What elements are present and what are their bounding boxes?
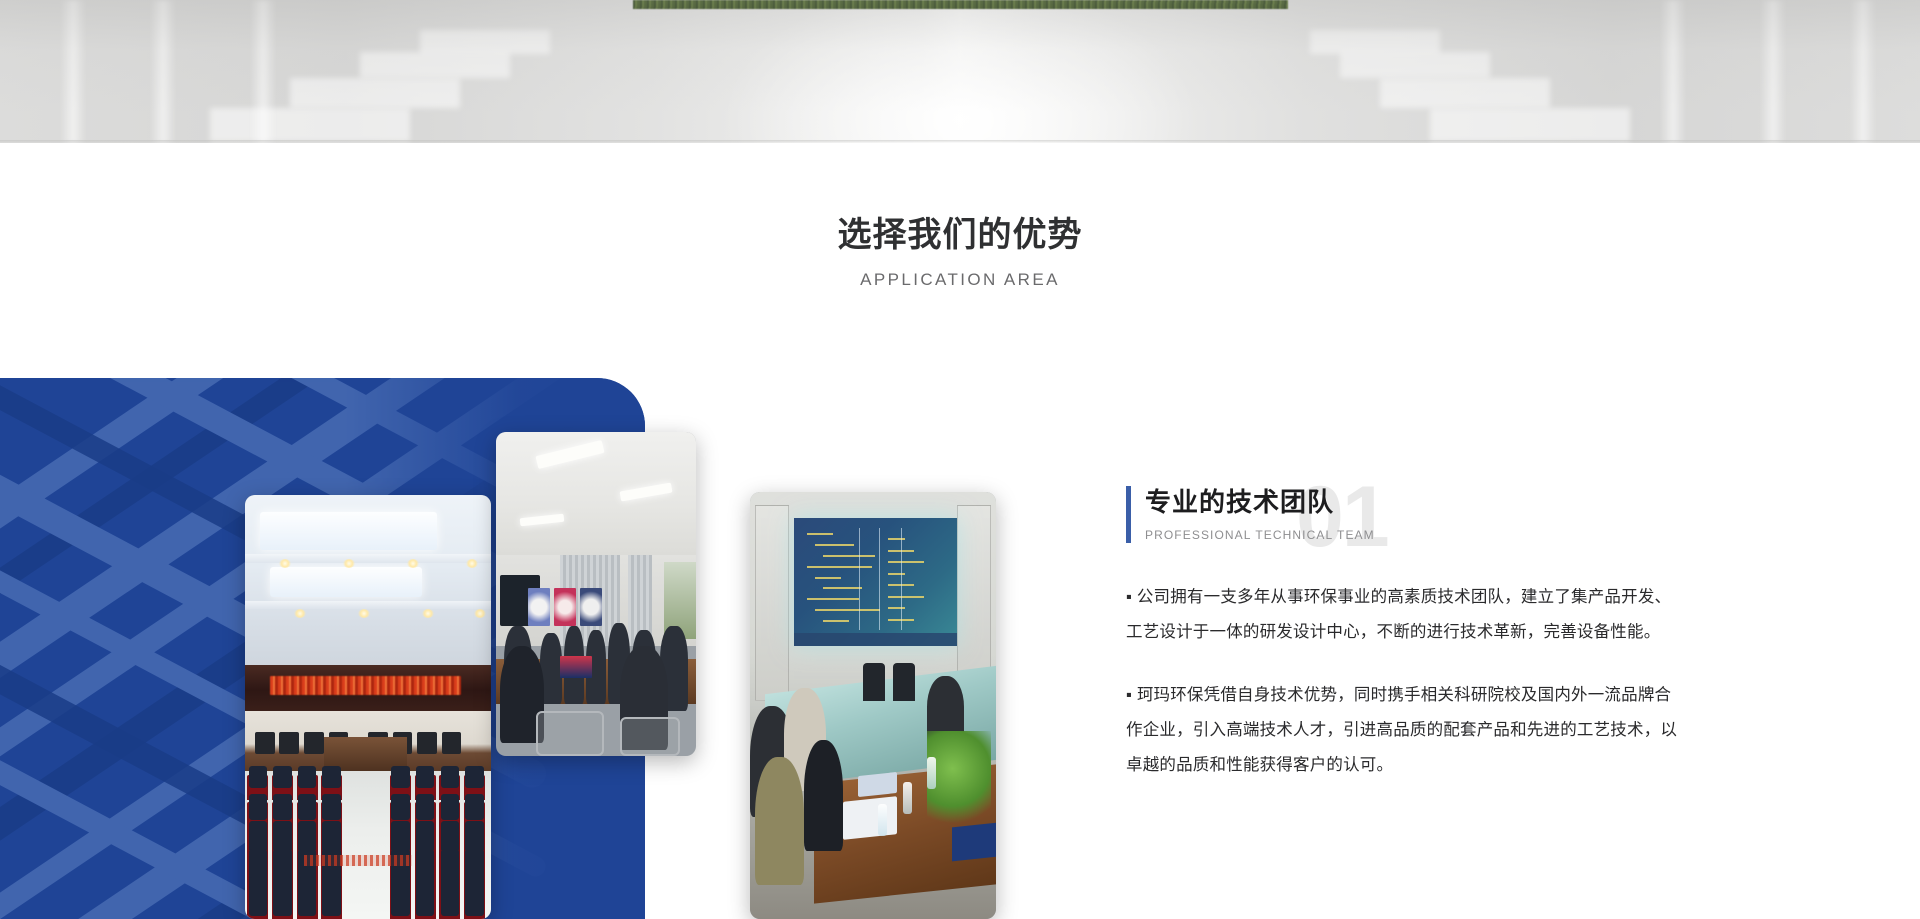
feature-title-cn: 专业的技术团队 [1145,482,1686,519]
feature-paragraph-1: ▪ 公司拥有一支多年从事环保事业的高素质技术团队，建立了集产品开发、工艺设计于一… [1126,580,1686,650]
page-title: 选择我们的优势 [0,215,1920,256]
hero-banner [0,0,1920,143]
page-subtitle: APPLICATION AREA [0,270,1920,290]
feature-paragraph-2: ▪ 珂玛环保凭借自身技术优势，同时携手相关科研院校及国内外一流品牌合作企业，引入… [1126,678,1686,783]
feature-title-en: PROFESSIONAL TECHNICAL TEAM [1145,528,1686,542]
page-root: 选择我们的优势 APPLICATION AREA 01 专业的技术团队 PROF… [0,0,1920,919]
section-heading: 选择我们的优势 APPLICATION AREA [0,215,1920,290]
photo-projector-room[interactable] [750,492,996,919]
photo-meeting-room[interactable] [496,432,696,756]
feature-content: 01 专业的技术团队 PROFESSIONAL TECHNICAL TEAM ▪… [1126,482,1686,783]
accent-bar [1126,486,1131,543]
photo-auditorium[interactable] [245,495,491,919]
feature-header: 01 专业的技术团队 PROFESSIONAL TECHNICAL TEAM [1126,482,1686,560]
